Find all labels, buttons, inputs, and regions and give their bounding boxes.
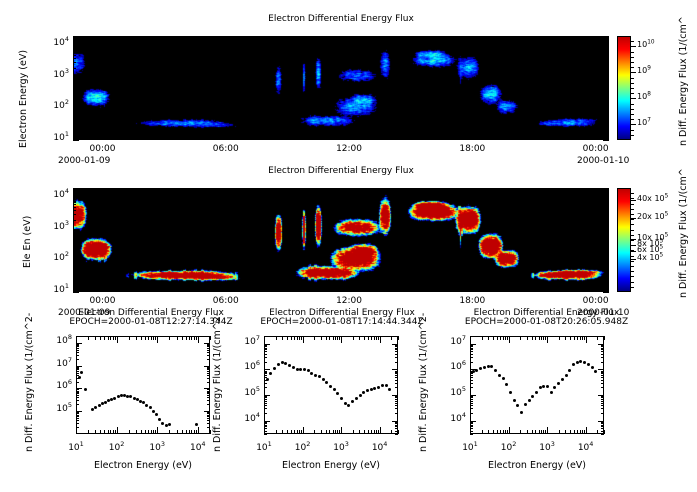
data-point <box>370 388 373 391</box>
spectrum-3-xlabel: Electron Energy (eV) <box>440 460 634 471</box>
ytick-minor <box>73 202 76 203</box>
ytick-minor <box>601 351 604 352</box>
ytick-minor <box>73 273 76 274</box>
ytick-minor <box>76 400 79 401</box>
ytick-minor <box>73 99 76 100</box>
ytick-minor <box>76 420 79 421</box>
xtick-minor <box>151 336 152 340</box>
xtick-minor <box>102 137 103 140</box>
xtick-minor <box>246 289 247 292</box>
ytick-minor <box>73 78 76 79</box>
xtick-minor <box>513 137 514 140</box>
ytick-minor <box>395 373 398 374</box>
xtick-minor <box>493 289 494 292</box>
colorbar-tick-minor <box>631 235 634 236</box>
xtick-minor <box>497 336 498 340</box>
xtick-minor <box>391 336 392 340</box>
xtick-minor <box>364 336 365 340</box>
xtick-minor <box>123 188 124 191</box>
ytick-minor <box>207 350 210 351</box>
xtick-minor <box>565 336 566 340</box>
xtick-minor <box>110 336 111 340</box>
colorbar-tick-minor <box>631 224 634 225</box>
ytick-minor <box>395 403 398 404</box>
xtick-minor <box>555 289 556 292</box>
xtick-minor <box>370 289 371 292</box>
xtick-minor <box>196 336 197 340</box>
ytick-minor <box>606 236 609 237</box>
ytick-minor <box>606 125 609 126</box>
ytick-minor <box>73 121 76 122</box>
xtick-minor <box>604 336 605 340</box>
spectrum-3-xtick-0: 101 <box>456 443 484 453</box>
xtick-minor <box>488 430 489 434</box>
colorbar-tick-minor <box>631 261 634 262</box>
ytick-minor <box>76 423 79 424</box>
ytick-minor <box>73 245 76 246</box>
xtick-minor <box>378 336 379 340</box>
ytick-minor <box>601 345 604 346</box>
ytick-minor <box>601 397 604 398</box>
ytick-minor <box>76 371 79 372</box>
ytick-minor <box>73 55 76 56</box>
xtick-minor <box>88 430 89 434</box>
xtick-minor <box>541 336 542 340</box>
ytick-minor <box>606 238 609 239</box>
ytick-minor <box>73 112 76 113</box>
ytick-minor <box>76 415 79 416</box>
xtick-minor <box>191 336 192 340</box>
xtick-minor <box>136 336 137 340</box>
ytick-minor <box>601 408 604 409</box>
ytick-minor <box>207 413 210 414</box>
ytick-minor <box>606 201 609 202</box>
ytick-minor <box>470 346 473 347</box>
xtick-minor <box>596 289 597 292</box>
xtick-minor <box>472 188 473 191</box>
ytick-minor <box>264 405 267 406</box>
xtick-minor <box>398 336 399 340</box>
colorbar-tick-minor <box>631 250 634 251</box>
spectrum-1-plot[interactable] <box>76 336 210 434</box>
ytick-minor <box>73 214 76 215</box>
xtick-minor <box>596 36 597 39</box>
xtick-minor <box>164 188 165 191</box>
ytick-minor <box>601 362 604 363</box>
xtick-minor <box>575 289 576 292</box>
xtick-minor <box>472 36 473 39</box>
ytick-minor <box>601 357 604 358</box>
ytick-minor <box>606 283 609 284</box>
colorbar-tick-minor <box>631 98 634 99</box>
ytick-minor <box>264 362 267 363</box>
ytick-minor <box>395 351 398 352</box>
xtick-minor <box>493 36 494 39</box>
xtick-minor <box>565 430 566 434</box>
xtick-minor <box>328 36 329 39</box>
xtick-minor <box>123 137 124 140</box>
spectrum-3-ytick-1: 106 <box>438 362 466 372</box>
ytick-minor <box>470 423 473 424</box>
xtick-minor <box>368 336 369 340</box>
ytick-minor <box>606 251 609 252</box>
ytick-minor <box>73 118 76 119</box>
xtick-minor <box>390 137 391 140</box>
ytick-minor <box>601 348 604 349</box>
xtick-major <box>547 427 548 434</box>
data-point <box>535 391 538 394</box>
xtick-minor <box>102 36 103 39</box>
xtick-minor <box>321 336 322 340</box>
ytick-minor <box>606 99 609 100</box>
xtick-major <box>76 427 77 434</box>
xtick-minor <box>374 430 375 434</box>
ytick-minor <box>601 346 604 347</box>
middle-panel-ylabel: Ele En (eV) <box>22 268 74 279</box>
ytick-minor <box>73 251 76 252</box>
ytick-minor <box>606 214 609 215</box>
ytick-minor <box>470 405 473 406</box>
ytick-minor <box>395 357 398 358</box>
ytick-minor <box>207 404 210 405</box>
ytick-minor <box>470 397 473 398</box>
xtick-minor <box>452 289 453 292</box>
ytick-minor <box>395 371 398 372</box>
xtick-minor <box>145 430 146 434</box>
colorbar-tick-minor <box>631 282 634 283</box>
ylabel-text: n Diff. Energy Flux (1/(cm^2- <box>418 313 429 452</box>
xtick-minor <box>299 430 300 434</box>
xtick-minor <box>164 137 165 140</box>
xtick-major <box>509 336 510 343</box>
xtick-minor <box>267 36 268 39</box>
data-point <box>385 384 388 387</box>
ytick-minor <box>73 267 76 268</box>
ytick-minor <box>73 262 76 263</box>
xtick-minor <box>113 430 114 434</box>
xtick-minor <box>186 336 187 340</box>
data-point <box>366 389 369 392</box>
ytick-minor <box>395 346 398 347</box>
xtick-major <box>509 427 510 434</box>
colorbar-tick-minor <box>631 204 634 205</box>
colorbar-tick-minor <box>631 62 634 63</box>
ytick-minor <box>73 90 76 91</box>
ytick-minor <box>606 204 609 205</box>
ytick-minor <box>73 36 76 37</box>
ytick-minor <box>207 367 210 368</box>
ytick-minor <box>207 344 210 345</box>
xtick-minor <box>115 430 116 434</box>
xtick-minor <box>246 36 247 39</box>
xtick-major <box>380 336 381 343</box>
ytick-minor <box>207 345 210 346</box>
ylabel-text: n Diff. Energy Flux (1/(cm^2- <box>212 313 223 452</box>
xtick-minor <box>123 36 124 39</box>
ytick-minor <box>601 423 604 424</box>
xtick-minor <box>431 137 432 140</box>
ytick-minor <box>264 396 267 397</box>
xtick-minor <box>194 336 195 340</box>
xtick-minor <box>488 336 489 340</box>
xtick-minor <box>507 336 508 340</box>
colorbar-tick-minor <box>631 72 634 73</box>
spectrum-2-ytick-3: 104 <box>232 414 260 424</box>
ytick-minor <box>395 401 398 402</box>
ytick-minor <box>395 354 398 355</box>
xtick-minor <box>574 430 575 434</box>
middle-colorbar[interactable] <box>617 188 631 292</box>
xtick-minor <box>545 336 546 340</box>
ylabel-text: n Diff. Energy Flux (1/(cm^2- <box>24 313 35 452</box>
xtick-minor <box>497 430 498 434</box>
ytick-minor <box>76 416 79 417</box>
top-colorbar-label: n Diff. Energy Flux (1/(cm^ <box>678 146 697 157</box>
ytick-minor <box>395 375 398 376</box>
ytick-minor <box>207 355 210 356</box>
xtick-minor <box>503 336 504 340</box>
ytick-minor <box>76 393 79 394</box>
ytick-minor <box>264 401 267 402</box>
xtick-minor <box>189 430 190 434</box>
xtick-minor <box>584 336 585 340</box>
colorbar-tick-minor <box>631 214 634 215</box>
ytick-minor <box>264 372 267 373</box>
ytick-minor <box>601 405 604 406</box>
xtick-minor <box>500 430 501 434</box>
ytick-minor <box>470 377 473 378</box>
xtick-major <box>198 427 199 434</box>
xtick-major <box>117 336 118 343</box>
xtick-minor <box>539 430 540 434</box>
ytick-minor <box>76 395 79 396</box>
ytick-minor <box>73 86 76 87</box>
ytick-minor <box>76 404 79 405</box>
xtick-minor <box>148 430 149 434</box>
ytick-minor <box>470 362 473 363</box>
axis-xtick-top-3: 18:00 <box>455 144 489 154</box>
xtick-minor <box>575 188 576 191</box>
ytick-minor <box>606 86 609 87</box>
ytick-minor <box>601 426 604 427</box>
colorbar-tick-minor <box>631 88 634 89</box>
xtick-minor <box>349 137 350 140</box>
ytick-minor <box>606 188 609 189</box>
ytick-minor <box>606 270 609 271</box>
data-point <box>333 388 336 391</box>
colorbar-tick-middle-0: 40x 105 <box>637 194 668 203</box>
xtick-minor <box>205 36 206 39</box>
ytick-minor <box>395 383 398 384</box>
xtick-minor <box>493 430 494 434</box>
xtick-minor <box>153 336 154 340</box>
xtick-minor <box>226 36 227 39</box>
xtick-minor <box>151 430 152 434</box>
xtick-minor <box>371 336 372 340</box>
spectrum-1-xtick-0: 101 <box>62 443 90 453</box>
middle-spectrogram-plot[interactable] <box>73 188 609 292</box>
xtick-minor <box>205 137 206 140</box>
ytick-minor <box>470 387 473 388</box>
ytick-minor <box>470 357 473 358</box>
spectrum-3-plot[interactable] <box>470 336 604 434</box>
xtick-major <box>198 336 199 343</box>
xtick-minor <box>335 336 336 340</box>
spectrum-2-ytick-1: 106 <box>232 362 260 372</box>
xtick-minor <box>189 336 190 340</box>
data-point <box>483 366 486 369</box>
xtick-major <box>264 336 265 343</box>
ytick-minor <box>601 373 604 374</box>
ytick-minor <box>601 380 604 381</box>
ytick-minor <box>73 84 76 85</box>
ytick-minor <box>470 375 473 376</box>
ytick-minor <box>76 382 79 383</box>
xtick-minor <box>287 289 288 292</box>
xtick-minor <box>555 188 556 191</box>
ytick-minor <box>395 425 398 426</box>
xtick-minor <box>378 430 379 434</box>
ytick-minor <box>601 371 604 372</box>
colorbar-tick-minor <box>631 287 634 288</box>
ytick-minor <box>606 115 609 116</box>
xtick-minor <box>123 289 124 292</box>
ytick-minor <box>601 349 604 350</box>
xtick-minor <box>144 188 145 191</box>
xtick-minor <box>520 336 521 340</box>
top-xaxis-date-left: 2000-01-09 <box>58 156 110 166</box>
xtick-minor <box>534 188 535 191</box>
data-point <box>576 361 579 364</box>
middle-colorbar-label: n Diff. Energy Flux (1/(cm^ <box>678 298 697 309</box>
axis-xtick-middle-3: 18:00 <box>455 296 489 306</box>
xtick-minor <box>580 336 581 340</box>
xtick-minor <box>604 430 605 434</box>
colorbar-tick-middle-5: 4x 105 <box>637 253 663 262</box>
ytick-minor <box>73 234 76 235</box>
xtick-minor <box>169 336 170 340</box>
ytick-minor <box>207 397 210 398</box>
xtick-minor <box>287 137 288 140</box>
xtick-major <box>470 336 471 343</box>
xtick-minor <box>267 289 268 292</box>
colorbar-tick-minor <box>631 124 634 125</box>
xtick-minor <box>570 430 571 434</box>
ytick-minor <box>606 264 609 265</box>
xtick-minor <box>472 289 473 292</box>
xtick-minor <box>411 36 412 39</box>
xtick-minor <box>144 289 145 292</box>
ytick-minor <box>606 50 609 51</box>
xtick-minor <box>153 430 154 434</box>
colorbar-tick-minor <box>631 104 634 105</box>
top-colorbar[interactable] <box>617 36 631 140</box>
xtick-major <box>341 336 342 343</box>
xtick-minor <box>431 36 432 39</box>
xtick-minor <box>177 430 178 434</box>
ytick-minor <box>264 371 267 372</box>
xtick-minor <box>177 336 178 340</box>
ytick-minor <box>395 426 398 427</box>
xtick-minor <box>493 137 494 140</box>
data-point <box>524 403 527 406</box>
top-spectrogram-plot[interactable] <box>73 36 609 140</box>
xtick-minor <box>570 336 571 340</box>
colorbar-tick-minor <box>631 78 634 79</box>
xtick-minor <box>155 336 156 340</box>
ytick-minor <box>601 434 604 435</box>
xtick-minor <box>398 430 399 434</box>
xtick-minor <box>104 430 105 434</box>
spectrum-1-ytick-3: 105 <box>44 404 72 414</box>
xtick-minor <box>513 36 514 39</box>
xtick-minor <box>308 188 309 191</box>
ytick-minor <box>601 403 604 404</box>
xtick-minor <box>353 336 354 340</box>
ytick-major <box>73 140 79 141</box>
ytick-minor <box>73 242 76 243</box>
xtick-major <box>264 427 265 434</box>
xtick-minor <box>376 336 377 340</box>
xtick-minor <box>390 289 391 292</box>
xtick-minor <box>349 289 350 292</box>
ytick-minor <box>606 112 609 113</box>
xtick-minor <box>411 188 412 191</box>
xtick-minor <box>539 336 540 340</box>
ytick-minor <box>606 55 609 56</box>
xtick-minor <box>596 137 597 140</box>
xtick-minor <box>596 188 597 191</box>
xtick-minor <box>534 289 535 292</box>
ytick-minor <box>606 245 609 246</box>
spectrum-1-xlabel: Electron Energy (eV) <box>46 460 240 471</box>
colorbar-tick-minor <box>631 198 634 199</box>
xtick-minor <box>95 336 96 340</box>
ytick-minor <box>73 47 76 48</box>
ytick-minor <box>470 348 473 349</box>
ytick-minor <box>76 373 79 374</box>
ytick-minor <box>73 277 76 278</box>
ytick-minor <box>601 425 604 426</box>
axis-xtick-top-4: 00:00 <box>579 144 613 154</box>
xtick-minor <box>534 36 535 39</box>
colorbar-tick-minor <box>631 219 634 220</box>
xtick-minor <box>108 336 109 340</box>
top-panel-title: Electron Differential Energy Flux <box>73 14 609 24</box>
xtick-minor <box>574 336 575 340</box>
ytick-minor <box>606 220 609 221</box>
ytick-minor <box>606 265 609 266</box>
ytick-minor <box>606 230 609 231</box>
xtick-minor <box>226 188 227 191</box>
ytick-minor <box>264 345 267 346</box>
colorbar-tick-minor <box>631 135 634 136</box>
ytick-minor <box>73 230 76 231</box>
data-point <box>158 418 161 421</box>
xtick-minor <box>328 137 329 140</box>
xtick-minor <box>185 188 186 191</box>
ytick-minor <box>606 232 609 233</box>
ytick-minor <box>264 346 267 347</box>
ytick-minor <box>73 232 76 233</box>
ytick-minor <box>606 202 609 203</box>
xtick-minor <box>185 289 186 292</box>
ytick-minor <box>395 408 398 409</box>
ytick-minor <box>264 348 267 349</box>
ytick-minor <box>606 118 609 119</box>
ytick-minor <box>73 49 76 50</box>
spectrum-3-xtick-3: 104 <box>572 443 600 453</box>
